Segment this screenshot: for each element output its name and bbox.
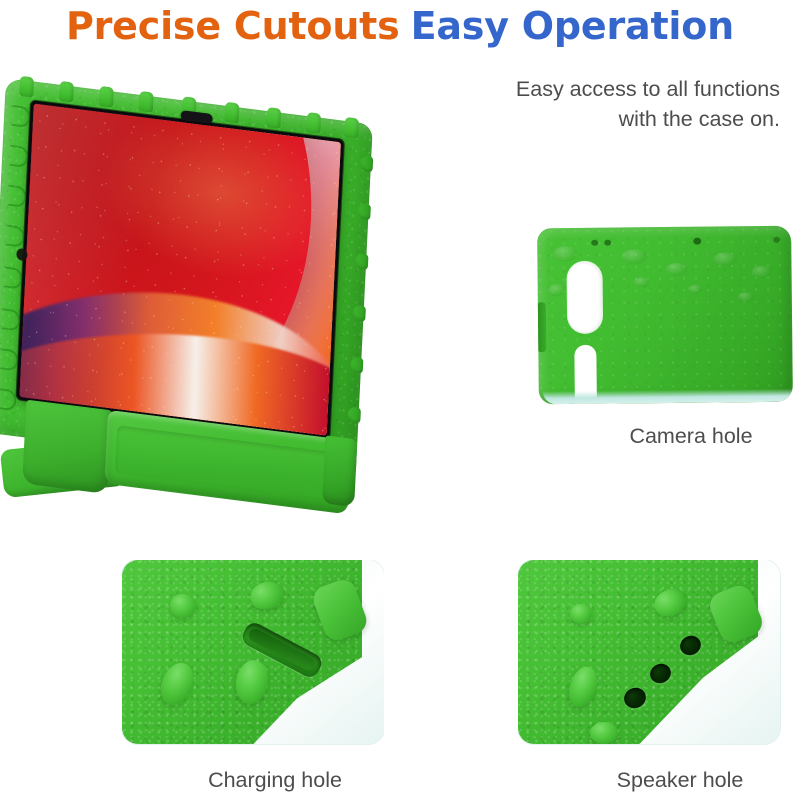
feature-panel-camera	[536, 221, 794, 413]
case-side-cutout	[537, 302, 546, 352]
hero-product-photo	[0, 62, 460, 522]
case-foot-right	[322, 435, 357, 507]
case-foot-left	[22, 400, 112, 495]
product-feature-image: Precise CutoutsEasy Operation Easy acces…	[0, 0, 800, 801]
feature-panel-charging	[122, 560, 384, 756]
macro-closeup-charging	[122, 560, 384, 744]
tablet-assembly	[0, 78, 375, 531]
caption-charging-hole: Charging hole	[150, 768, 400, 793]
page-title-secondary: Easy Operation	[411, 4, 734, 48]
hero-stage	[0, 62, 460, 522]
page-title: Precise CutoutsEasy Operation	[0, 2, 800, 52]
foam-bump	[170, 594, 196, 618]
camera-lens-icon	[693, 238, 701, 245]
wallpaper-sparkle	[19, 104, 340, 436]
camera-lens-secondary-icon	[773, 237, 780, 243]
caption-speaker-hole: Speaker hole	[555, 768, 800, 793]
tablet-display	[19, 104, 340, 436]
tablet-screen-bezel	[16, 100, 344, 439]
case-back-shell	[537, 226, 793, 405]
foam-bump	[590, 722, 618, 744]
macro-closeup-speaker	[518, 560, 780, 744]
page-title-primary: Precise Cutouts	[66, 4, 400, 48]
camera-hole-cutout-large	[567, 262, 602, 333]
panel-mint-edge	[543, 389, 793, 405]
feature-panel-speaker	[518, 560, 786, 756]
caption-camera-hole: Camera hole	[566, 424, 800, 449]
foam-bump	[570, 604, 592, 624]
